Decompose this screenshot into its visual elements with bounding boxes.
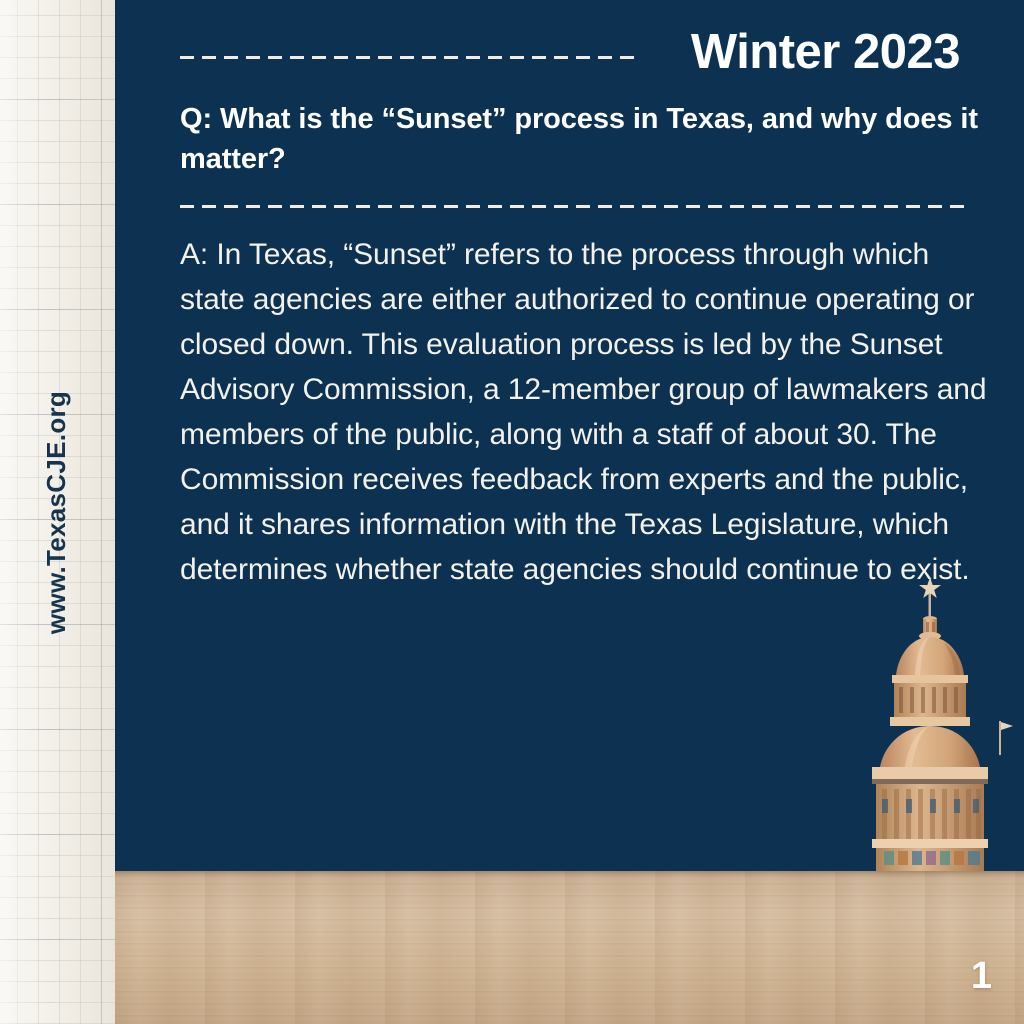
website-url-text: www.TexasCJE.org (41, 390, 72, 633)
content-card: Winter 2023 Q: What is the “Sunset” proc… (115, 0, 1024, 871)
poster-page: www.TexasCJE.org Winter 2023 Q: What is … (0, 0, 1024, 1024)
texas-capitol-dome-icon (832, 571, 1024, 871)
paper-strip: www.TexasCJE.org (0, 0, 115, 1024)
issue-title: Winter 2023 (691, 24, 960, 80)
wood-table-surface (115, 871, 1024, 1024)
website-url[interactable]: www.TexasCJE.org (0, 0, 115, 1024)
page-number: 1 (971, 955, 992, 998)
dashed-rule-top (180, 56, 640, 60)
header-row: Winter 2023 (180, 34, 960, 94)
question-text: Q: What is the “Sunset” process in Texas… (180, 100, 980, 179)
answer-text: A: In Texas, “Sunset” refers to the proc… (180, 232, 990, 592)
dashed-rule-middle (180, 205, 964, 209)
table-edge-shadow (115, 871, 1024, 878)
